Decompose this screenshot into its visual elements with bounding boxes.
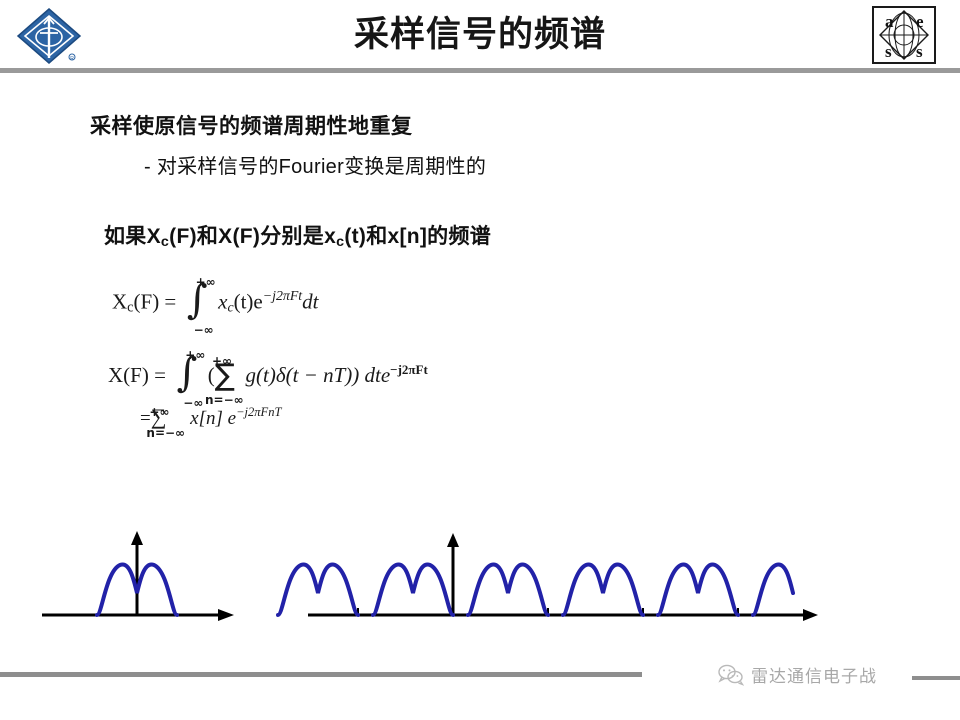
- slide-root: R a e s s 采样信号的频谱 采样使原信号的频谱周期性地重复 - 对采样信…: [0, 0, 960, 720]
- chart-sampled-spectrum: [258, 505, 878, 655]
- svg-text:R: R: [70, 56, 74, 62]
- formula2-sum-upper: +∞: [212, 354, 232, 368]
- formula3-sum-lower: n=−∞: [146, 426, 185, 440]
- formula-xc: Xc(F) = ∫ +∞ −∞ xc(t)e−j2πFtdt: [112, 288, 319, 317]
- formula1-lhs: X: [112, 290, 127, 314]
- bullet3-part3: (t)和x[n]的频谱: [344, 225, 491, 248]
- formula1-body-tail: (t)e: [234, 290, 263, 314]
- formula1-dt: dt: [302, 290, 318, 314]
- header-divider: [0, 68, 960, 73]
- footer-divider-right: [912, 676, 960, 680]
- wechat-icon: [718, 664, 744, 686]
- formula2-int-upper: +∞: [185, 348, 205, 362]
- aess-logo: a e s s: [872, 6, 936, 64]
- right-chart-y-arrow: [447, 533, 459, 547]
- right-chart-x-arrow: [803, 609, 818, 621]
- formula1-exponent: −j2πFt: [263, 288, 302, 303]
- aess-letter-a: a: [885, 12, 894, 31]
- footer-divider: [0, 672, 642, 677]
- watermark: 雷达通信电子战: [718, 662, 877, 687]
- aess-letter-s1: s: [885, 42, 892, 61]
- bullet-line-2: - 对采样信号的Fourier变换是周期性的: [144, 150, 486, 179]
- left-chart-y-arrow: [131, 531, 143, 545]
- aess-letter-e: e: [916, 12, 924, 31]
- bullet3-part1: 如果X: [104, 225, 161, 248]
- bullet3-part2: (F)和X(F)分别是x: [169, 225, 336, 248]
- formula3-sum-upper: +∞: [149, 405, 169, 419]
- page-title: 采样信号的频谱: [120, 12, 840, 58]
- spectra-figure: Xc(F) 0: [0, 505, 960, 655]
- right-chart-curve: [278, 564, 793, 615]
- formula2-lhs: X(F) =: [108, 363, 166, 387]
- formula-x-series: =∑ +∞ n=−∞ x[n] e−j2πFnT: [140, 404, 281, 430]
- institute-diamond-logo: R: [14, 6, 84, 66]
- bullet3-sub-c1: c: [161, 234, 169, 250]
- formula1-lhs-tail: (F) =: [134, 290, 177, 314]
- bullet-line-3: 如果Xc(F)和X(F)分别是xc(t)和x[n]的频谱: [104, 220, 491, 250]
- formula3-exponent: −j2πFnT: [236, 405, 281, 419]
- formula2-exponent: −j2πFt: [390, 362, 428, 377]
- left-chart-x-arrow: [218, 609, 234, 621]
- formula2-dte: dte: [365, 363, 391, 387]
- aess-letter-s2: s: [916, 42, 923, 61]
- formula-x: X(F) = ∫ +∞ −∞ (∑ +∞ n=−∞ g(t)δ(t − nT))…: [108, 362, 428, 388]
- formula1-lower-limit: −∞: [194, 323, 214, 337]
- formula3-body: x[n] e: [190, 408, 236, 429]
- formula2-body: g(t)δ(t − nT)): [246, 363, 360, 387]
- bullet-line-1: 采样使原信号的频谱周期性地重复: [90, 110, 413, 140]
- formula1-upper-limit: +∞: [196, 275, 216, 289]
- watermark-text: 雷达通信电子战: [751, 662, 877, 687]
